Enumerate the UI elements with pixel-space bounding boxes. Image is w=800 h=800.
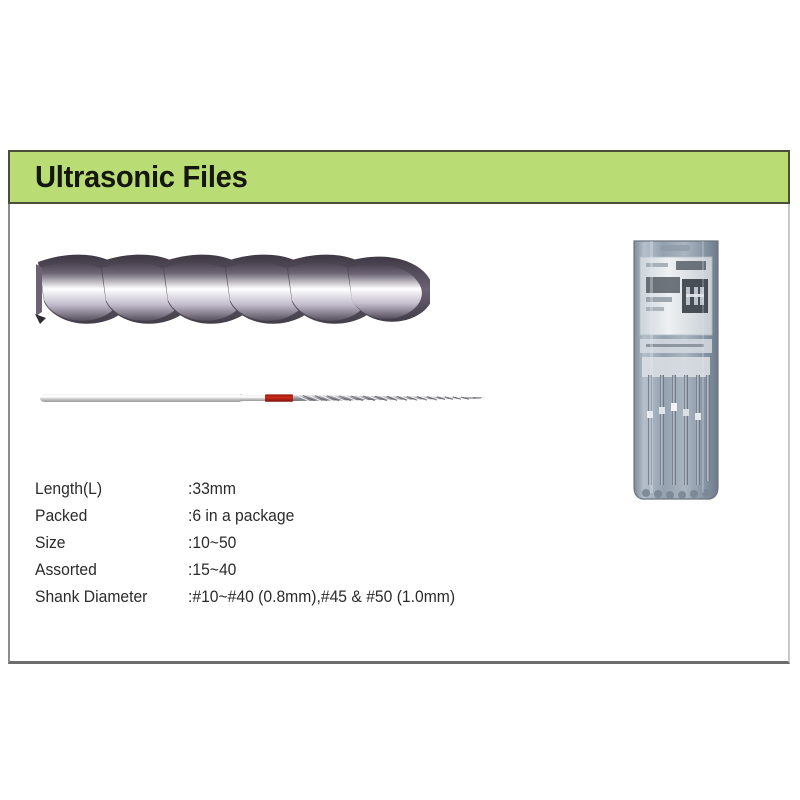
spec-value: :15~40 bbox=[188, 561, 236, 580]
table-row: Packed :6 in a package bbox=[35, 507, 595, 534]
blister-package-photo bbox=[620, 235, 732, 510]
page-title: Ultrasonic Files bbox=[35, 159, 247, 195]
spec-label: Shank Diameter bbox=[35, 588, 180, 607]
table-row: Length(L) :33mm bbox=[35, 480, 595, 507]
magnified-helical-flute-figure bbox=[30, 238, 430, 342]
table-row: Size :10~50 bbox=[35, 534, 595, 561]
table-row: Shank Diameter :#10~#40 (0.8mm),#45 & #5… bbox=[35, 588, 595, 615]
specification-table: Length(L) :33mm Packed :6 in a package S… bbox=[35, 480, 595, 615]
spec-label: Length(L) bbox=[35, 480, 180, 499]
spec-label: Assorted bbox=[35, 561, 180, 580]
spec-value: :33mm bbox=[188, 480, 236, 499]
spec-value: :6 in a package bbox=[188, 507, 294, 526]
full-length-file-figure bbox=[33, 383, 493, 413]
table-row: Assorted :15~40 bbox=[35, 561, 595, 588]
product-title-bar: Ultrasonic Files bbox=[8, 150, 790, 204]
spec-label: Size bbox=[35, 534, 180, 553]
spec-value: :10~50 bbox=[188, 534, 236, 553]
spec-value: :#10~#40 (0.8mm),#45 & #50 (1.0mm) bbox=[188, 588, 455, 607]
product-card: Ultrasonic Files bbox=[8, 150, 790, 664]
spec-label: Packed bbox=[35, 507, 180, 526]
